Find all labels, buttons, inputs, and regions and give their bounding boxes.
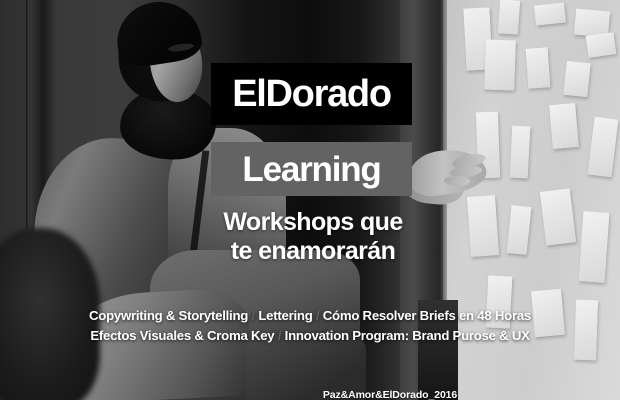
pinned-paper: [579, 211, 610, 283]
course-list: Copywriting & Storytelling / Lettering /…: [0, 306, 620, 347]
pinned-paper: [510, 126, 531, 179]
pinned-paper: [540, 188, 576, 245]
course-separator: /: [252, 308, 255, 323]
pinned-paper: [526, 47, 551, 88]
course-line-1: Copywriting & Storytelling / Lettering /…: [0, 306, 620, 326]
footer-credit: Paz&Amor&ElDorado_2016: [0, 389, 620, 400]
brand-name: ElDorado: [232, 75, 391, 113]
pinned-paper: [467, 195, 499, 257]
pinned-paper: [588, 117, 619, 177]
pinned-paper: [498, 0, 520, 35]
pinned-paper: [549, 103, 579, 149]
poster-canvas: ElDorado Learning Workshops que te enamo…: [0, 0, 620, 400]
brand-block: ElDorado: [211, 63, 412, 125]
tagline: Workshops que te enamorarán: [168, 208, 458, 267]
pinned-paper: [563, 61, 590, 97]
course-item: Lettering: [258, 308, 312, 323]
course-line-2: Efectos Visuales & Croma Key / Innovatio…: [0, 326, 620, 346]
course-item: Cómo Resolver Briefs en 48 Horas: [323, 308, 531, 323]
pinned-paper: [586, 32, 617, 58]
program-name: Learning: [242, 152, 380, 187]
tagline-line-1: Workshops que: [168, 208, 458, 237]
pinned-paper: [507, 205, 532, 255]
course-item: Copywriting & Storytelling: [89, 308, 248, 323]
course-separator: /: [278, 328, 281, 343]
course-separator: /: [316, 308, 319, 323]
course-item: Efectos Visuales & Croma Key: [90, 328, 274, 343]
pinned-paper: [484, 39, 516, 90]
course-item: Innovation Program: Brand Purose & UX: [285, 328, 530, 343]
pinned-paper: [534, 2, 566, 25]
program-block: Learning: [211, 142, 412, 196]
tagline-line-2: te enamorarán: [168, 237, 458, 266]
